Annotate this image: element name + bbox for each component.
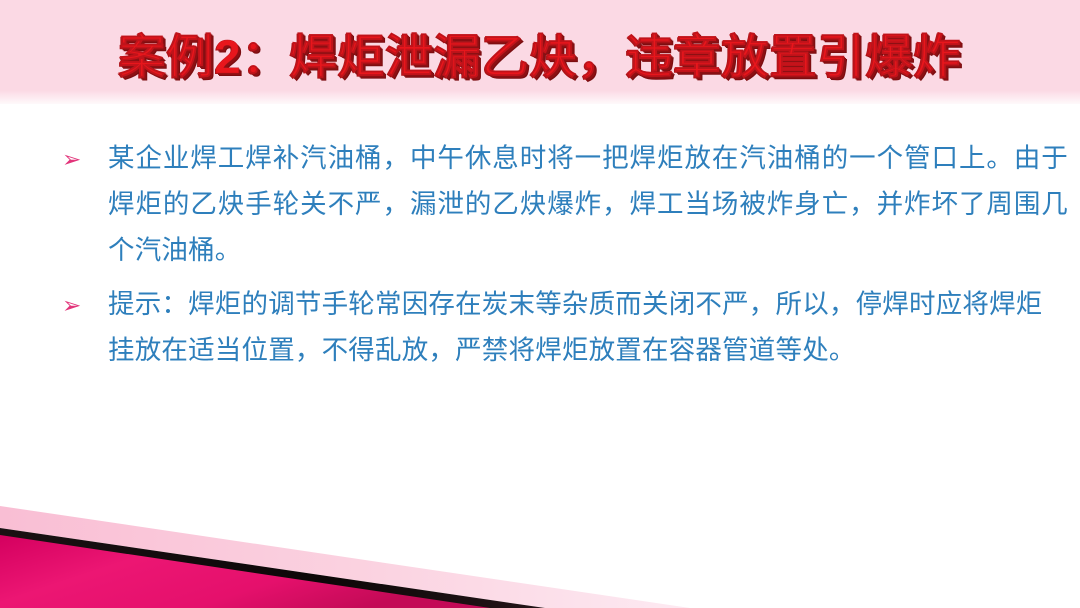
slide-body: ➢ 某企业焊工焊补汽油桶，中午休息时将一把焊炬放在汽油桶的一个管口上。由于焊炬的… [0, 104, 1080, 508]
deco-band-light-pink [0, 506, 690, 608]
deco-band-magenta [0, 535, 490, 608]
page-title: 案例2：焊炬泄漏乙炔，违章放置引爆炸 [0, 0, 1080, 104]
deco-band-black [0, 528, 545, 608]
slide-canvas: 案例2：焊炬泄漏乙炔，违章放置引爆炸 ➢ 某企业焊工焊补汽油桶，中午休息时将一把… [0, 0, 1080, 608]
list-item-text: 提示：焊炬的调节手轮常因存在炭末等杂质而关闭不严，所以，停焊时应将焊炬挂放在适当… [108, 282, 1068, 374]
arrow-bullet-icon: ➢ [58, 136, 108, 182]
list-item: ➢ 提示：焊炬的调节手轮常因存在炭末等杂质而关闭不严，所以，停焊时应将焊炬挂放在… [58, 282, 1068, 374]
arrow-bullet-icon: ➢ [58, 282, 108, 328]
list-item-text: 某企业焊工焊补汽油桶，中午休息时将一把焊炬放在汽油桶的一个管口上。由于焊炬的乙炔… [108, 136, 1068, 274]
list-item: ➢ 某企业焊工焊补汽油桶，中午休息时将一把焊炬放在汽油桶的一个管口上。由于焊炬的… [58, 136, 1068, 274]
